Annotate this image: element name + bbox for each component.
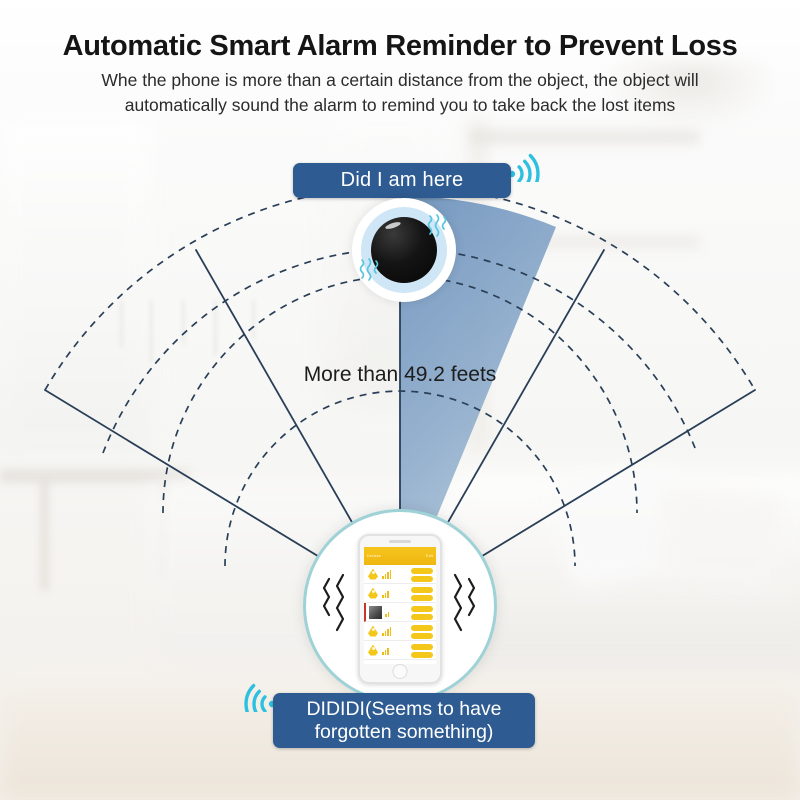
subtitle-line-1: Whe the phone is more than a certain dis… xyxy=(40,68,760,93)
list-item[interactable] xyxy=(364,641,436,660)
phone-callout-line-1: DIDIDI(Seems to have xyxy=(306,698,501,720)
list-item[interactable] xyxy=(364,565,436,584)
app-header-left-label: Devices xyxy=(367,554,381,558)
row-action-button[interactable] xyxy=(411,568,433,574)
tracker-tag-icon xyxy=(367,587,379,600)
tracker-tag-icon xyxy=(367,644,379,657)
subtitle-line-2: automatically sound the alarm to remind … xyxy=(40,93,760,118)
row-action-button[interactable] xyxy=(411,614,433,620)
vibration-waves-icon xyxy=(358,258,382,284)
vibration-waves-icon xyxy=(321,571,355,637)
phone-earpiece xyxy=(389,540,411,543)
app-header-bar: Devices Edit xyxy=(364,547,436,565)
row-action-button[interactable] xyxy=(411,587,433,593)
list-item[interactable] xyxy=(364,584,436,603)
row-action-button[interactable] xyxy=(411,625,433,631)
row-action-button[interactable] xyxy=(411,606,433,612)
tracker-tag-icon xyxy=(367,568,379,581)
signal-bars-icon xyxy=(382,589,389,598)
signal-bars-icon xyxy=(382,627,391,636)
distance-label: More than 49.2 feets xyxy=(200,363,600,387)
phone-callout-label: DIDIDI(Seems to have forgotten something… xyxy=(273,693,535,748)
tracker-node xyxy=(352,198,456,302)
row-action-button[interactable] xyxy=(411,633,433,639)
row-action-button[interactable] xyxy=(411,652,433,658)
phone-callout-line-2: forgotten something) xyxy=(315,721,494,743)
tracker-callout-label: Did I am here xyxy=(293,163,511,198)
row-action-button[interactable] xyxy=(411,595,433,601)
signal-bars-icon xyxy=(382,570,391,579)
row-action-button[interactable] xyxy=(411,644,433,650)
list-item[interactable] xyxy=(364,622,436,641)
signal-bars-icon xyxy=(385,608,389,617)
tracker-tag-icon xyxy=(367,625,379,638)
app-header-right-label[interactable]: Edit xyxy=(426,554,433,558)
smartphone-app-list: Devices Edit xyxy=(358,534,442,684)
photo-thumbnail-icon xyxy=(369,606,382,619)
vibration-waves-icon xyxy=(443,571,477,637)
signal-bars-icon xyxy=(382,646,389,655)
phone-node: Devices Edit xyxy=(303,509,497,703)
row-action-button[interactable] xyxy=(411,576,433,582)
page-subtitle: Whe the phone is more than a certain dis… xyxy=(40,68,760,118)
phone-screen: Devices Edit xyxy=(364,547,436,664)
phone-home-button[interactable] xyxy=(393,664,408,679)
vibration-waves-icon xyxy=(426,214,450,240)
page-title: Automatic Smart Alarm Reminder to Preven… xyxy=(0,30,800,63)
list-item[interactable] xyxy=(364,603,436,622)
infographic-canvas: Automatic Smart Alarm Reminder to Preven… xyxy=(0,0,800,800)
